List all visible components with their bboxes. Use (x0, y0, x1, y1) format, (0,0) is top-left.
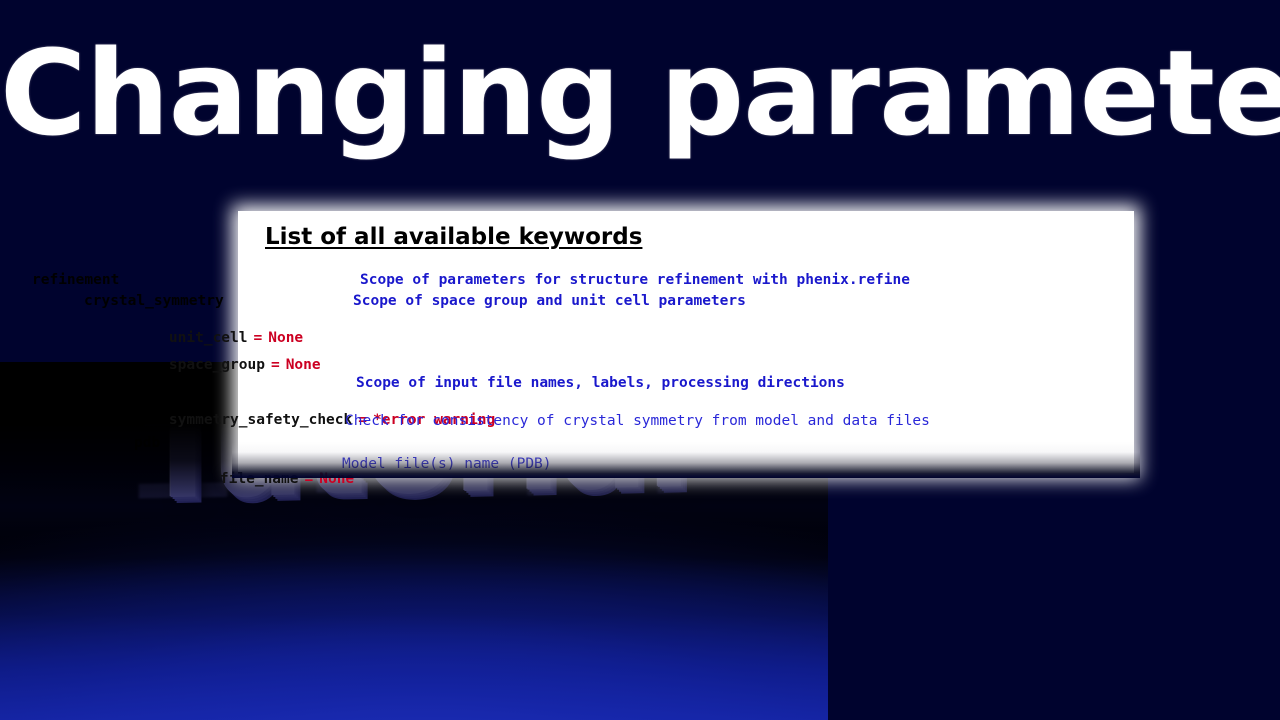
keyword-help-input: Scope of input file names, labels, proce… (356, 376, 845, 391)
keyword-equals-space-group: = (271, 357, 280, 373)
keyword-row-space-group: space_group=None (134, 343, 321, 387)
keyword-panel-heading: List of all available keywords (265, 224, 642, 250)
keyword-param-symmetry-safety-check: symmetry_safety_check (169, 412, 352, 428)
keyword-scope-pdb: pdb (134, 436, 160, 451)
keyword-value-space-group: None (286, 357, 321, 373)
keyword-panel-bottom-fade (232, 442, 1140, 478)
keyword-scope-crystal-symmetry: crystal_symmetry (84, 294, 224, 309)
keyword-scope-input: input (84, 376, 128, 391)
keyword-param-space-group: space_group (169, 357, 265, 373)
keyword-help-symmetry-safety-check: Check for consistency of crystal symmetr… (345, 414, 930, 429)
page-title: Changing parameters (0, 34, 1280, 152)
keyword-scope-refinement: refinement (32, 273, 119, 288)
keyword-help-refinement: Scope of parameters for structure refine… (360, 273, 910, 288)
slide-canvas: Changing parameters Tutorial Tutorial Li… (0, 0, 1280, 720)
keyword-help-crystal-symmetry: Scope of space group and unit cell param… (353, 294, 746, 309)
